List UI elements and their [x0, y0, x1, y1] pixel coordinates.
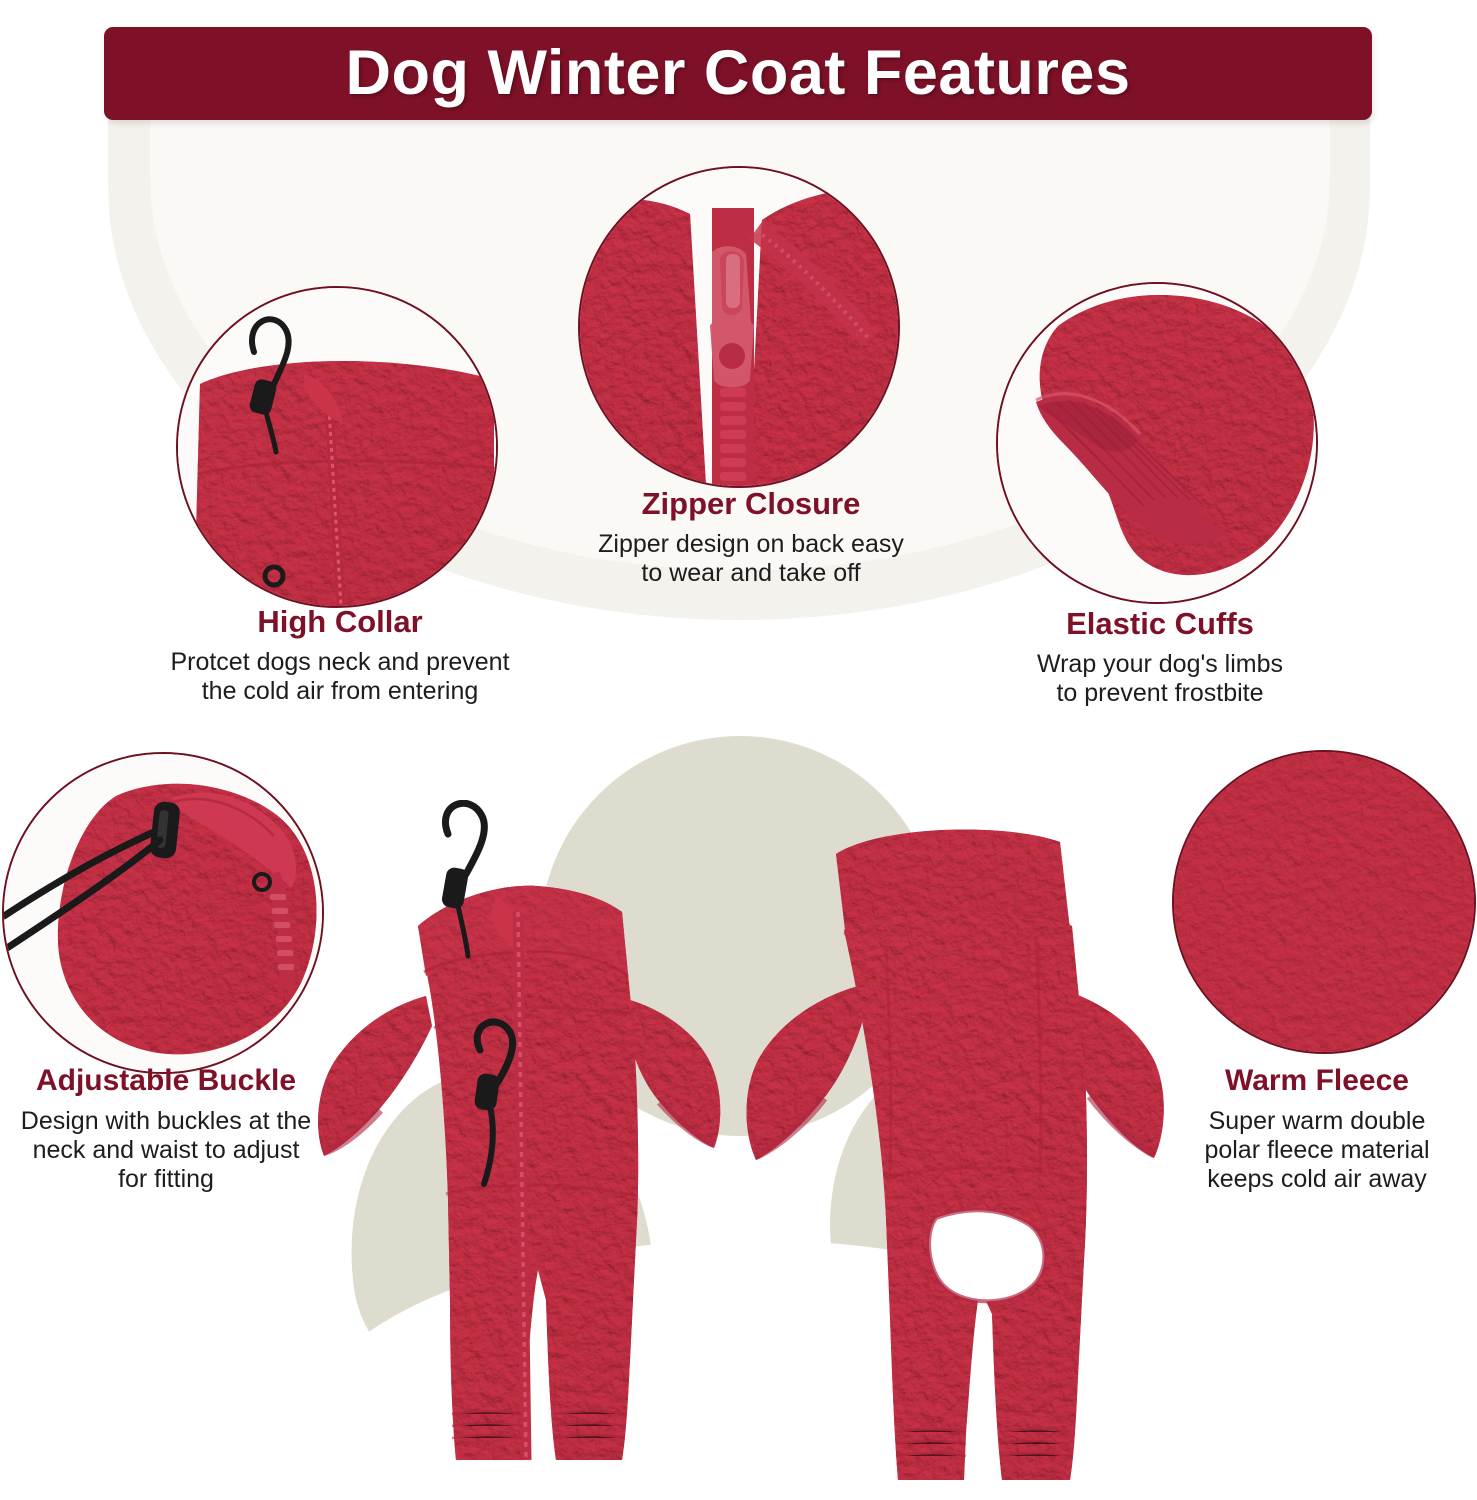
feature-description-high-collar: Protcet dogs neck and prevent the cold a… — [118, 648, 562, 706]
feature-image-zipper-closure — [578, 166, 900, 488]
feature-text-adjustable-buckle: Adjustable Buckle Design with buckles at… — [4, 1064, 328, 1194]
product-front-view — [300, 800, 730, 1500]
feature-text-elastic-cuffs: Elastic Cuffs Wrap your dog's limbs to p… — [960, 606, 1360, 708]
feature-image-high-collar — [176, 286, 498, 608]
feature-title-warm-fleece: Warm Fleece — [1152, 1064, 1477, 1099]
feature-title-adjustable-buckle: Adjustable Buckle — [4, 1064, 328, 1099]
page-title: Dog Winter Coat Features — [345, 42, 1130, 105]
feature-image-warm-fleece — [1172, 750, 1476, 1054]
feature-text-high-collar: High Collar Protcet dogs neck and preven… — [118, 604, 562, 706]
product-back-view — [740, 820, 1170, 1500]
feature-title-high-collar: High Collar — [118, 604, 562, 640]
feature-text-zipper-closure: Zipper Closure Zipper design on back eas… — [548, 486, 954, 588]
feature-description-warm-fleece: Super warm double polar fleece material … — [1152, 1107, 1477, 1194]
feature-title-elastic-cuffs: Elastic Cuffs — [960, 606, 1360, 642]
feature-image-elastic-cuffs — [996, 282, 1318, 604]
page-title-banner: Dog Winter Coat Features — [104, 27, 1372, 120]
feature-description-zipper-closure: Zipper design on back easy to wear and t… — [548, 530, 954, 588]
infographic-page: Dog Winter Coat Features — [0, 0, 1477, 1500]
feature-image-adjustable-buckle — [2, 752, 324, 1074]
feature-description-elastic-cuffs: Wrap your dog's limbs to prevent frostbi… — [960, 650, 1360, 708]
feature-description-adjustable-buckle: Design with buckles at the neck and wais… — [4, 1107, 328, 1194]
feature-text-warm-fleece: Warm Fleece Super warm double polar flee… — [1152, 1064, 1477, 1194]
feature-title-zipper-closure: Zipper Closure — [548, 486, 954, 522]
